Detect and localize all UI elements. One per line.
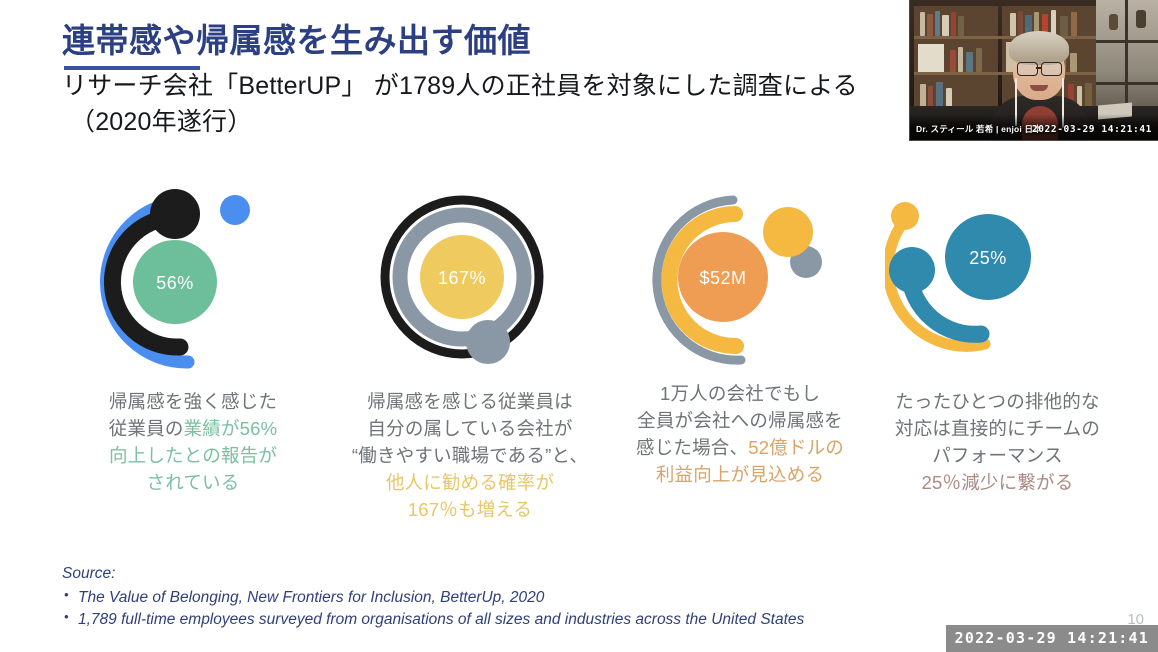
metric-graphic-row: 56% 167%	[0, 172, 1158, 392]
metric-donut-recommend-likelihood: 167%	[345, 172, 595, 387]
caption-text: パフォーマンス	[932, 445, 1063, 466]
metric-donut-profit-uplift: $52M	[613, 172, 863, 387]
donut-chart-25: 25%	[885, 172, 1095, 387]
caption-line: 全員が会社への帰属感を	[620, 407, 860, 434]
book	[927, 14, 933, 36]
source-heading: Source:	[62, 563, 804, 585]
subtitle-block: リサーチ会社「BetterUP」 が1789人の正社員を対象にした調査による （…	[62, 68, 962, 141]
window-ornament	[1109, 14, 1118, 30]
shelf-divider	[914, 72, 1098, 75]
metric-donut-exclusion-performance-drop: 25%	[865, 172, 1115, 387]
inner-arc-endpoint-dot	[763, 207, 813, 257]
teal-endpoint-dot	[889, 247, 935, 293]
book	[1018, 11, 1023, 36]
outer-arc-endpoint-dot	[220, 195, 250, 225]
book	[936, 82, 943, 108]
picture-frame	[918, 44, 944, 72]
eyeglasses-right-lens	[1041, 62, 1062, 76]
caption-accent: 向上したとの報告が	[109, 445, 277, 466]
caption-line: 帰属感を感じる従業員は	[345, 388, 595, 415]
book	[1060, 16, 1068, 36]
caption-line: 167％も増える	[345, 496, 595, 523]
book	[946, 88, 952, 108]
caption-text: “働きやすい職場である”と、	[352, 445, 588, 466]
recording-timestamp-bar: 2022-03-29 14:21:41	[946, 625, 1158, 652]
book	[976, 48, 982, 72]
metric-value: 56%	[156, 273, 194, 293]
book	[1010, 13, 1016, 36]
caption-line: 他人に勧める確率が	[345, 469, 595, 496]
window-mullion	[1096, 82, 1158, 85]
caption-text: 帰属感を強く感じた	[109, 391, 277, 412]
page-title: 連帯感や帰属感を生み出す価値	[62, 22, 942, 60]
subtitle-line-1: リサーチ会社「BetterUP」 が1789人の正社員を対象にした調査による	[62, 68, 962, 104]
metric-value: 25%	[969, 248, 1007, 268]
book	[935, 11, 940, 36]
caption-line: 帰属感を強く感じた	[78, 388, 308, 415]
caption-line: 自分の属している会社が	[345, 415, 595, 442]
caption-line: 対応は直接的にチームの	[880, 415, 1115, 442]
caption-accent: 25％減少に繋がる	[922, 472, 1074, 493]
book	[1085, 83, 1092, 108]
caption-accent: 52億ドルの	[748, 437, 844, 458]
caption-text: 1万人の会社でもし	[660, 383, 820, 404]
caption-text: 全員が会社への帰属感を	[637, 410, 843, 431]
donut-chart-52m: $52M	[623, 172, 853, 387]
book	[920, 12, 925, 36]
metric-caption-belonging-performance: 帰属感を強く感じた 従業員の業績が56% 向上したとの報告が されている	[78, 388, 308, 496]
book	[928, 86, 933, 108]
metric-donut-belonging-performance: 56%	[65, 172, 315, 387]
subtitle-line-2: （2020年遂行）	[62, 104, 962, 140]
caption-text: たったひとつの排他的な	[895, 391, 1099, 412]
caption-line: パフォーマンス	[880, 442, 1115, 469]
caption-accent: 167％も増える	[408, 499, 532, 520]
presentation-slide: 連帯感や帰属感を生み出す価値 リサーチ会社「BetterUP」 が1789人の正…	[0, 0, 1158, 652]
caption-accent: 業績が56%	[184, 418, 278, 439]
source-list-item: The Value of Belonging, New Frontiers fo…	[62, 587, 804, 609]
metric-caption-profit-uplift: 1万人の会社でもし 全員が会社への帰属感を 感じた場合、52億ドルの 利益向上が…	[620, 380, 860, 488]
metric-value: $52M	[699, 268, 746, 288]
donut-chart-167: 167%	[360, 172, 580, 387]
metric-caption-recommend-likelihood: 帰属感を感じる従業員は 自分の属している会社が “働きやすい職場である”と、 他…	[345, 388, 595, 523]
video-call-overlay[interactable]: Dr. スティール 若希 | enjoi 日本 2022-03-29 14:21…	[909, 0, 1158, 141]
book	[1071, 12, 1077, 36]
book	[950, 50, 956, 72]
inner-arc-endpoint-dot	[150, 189, 200, 239]
source-footer: Source: The Value of Belonging, New Fron…	[62, 563, 804, 631]
book	[1070, 53, 1077, 72]
caption-line: 25％減少に繋がる	[880, 469, 1115, 496]
caption-line: されている	[78, 469, 308, 496]
book	[958, 47, 963, 72]
webcam-video-frame	[910, 0, 1158, 140]
metric-caption-exclusion-performance-drop: たったひとつの排他的な 対応は直接的にチームの パフォーマンス 25％減少に繋が…	[880, 388, 1115, 496]
book	[920, 84, 926, 108]
caption-line: 1万人の会社でもし	[620, 380, 860, 407]
participant-name-label: Dr. スティール 若希 | enjoi 日本	[916, 123, 1042, 135]
caption-line: 向上したとの報告が	[78, 442, 308, 469]
caption-text: 帰属感を感じる従業員は	[367, 391, 573, 412]
caption-line: 従業員の業績が56%	[78, 415, 308, 442]
inner-ring-endpoint-dot	[466, 320, 510, 364]
book	[951, 12, 956, 36]
book	[942, 15, 949, 36]
person-hair	[1009, 31, 1069, 65]
orange-endpoint-dot	[891, 202, 919, 230]
caption-text: 自分の属している会社が	[367, 418, 572, 439]
caption-accent: されている	[147, 472, 240, 493]
window-ornament	[1136, 10, 1146, 28]
window-mullion	[1096, 40, 1158, 43]
caption-text: 対応は直接的にチームの	[895, 418, 1100, 439]
donut-chart-56: 56%	[80, 172, 300, 387]
title-block: 連帯感や帰属感を生み出す価値	[62, 22, 942, 60]
caption-text: 従業員の	[109, 418, 184, 439]
source-list-item: 1,789 full-time employees surveyed from …	[62, 609, 804, 631]
eyeglasses-bridge	[1036, 67, 1041, 69]
metric-value: 167%	[438, 268, 486, 288]
caption-text: 感じた場合、	[636, 437, 748, 458]
book	[966, 52, 973, 72]
caption-line: 利益向上が見込める	[620, 461, 860, 488]
caption-line: 感じた場合、52億ドルの	[620, 434, 860, 461]
video-timestamp: 2022-03-29 14:21:41	[1032, 124, 1152, 135]
eyeglasses-left-lens	[1017, 62, 1038, 76]
caption-line: たったひとつの排他的な	[880, 388, 1115, 415]
book	[958, 16, 964, 36]
shelf-divider	[914, 36, 1098, 39]
source-list: The Value of Belonging, New Frontiers fo…	[62, 587, 804, 631]
caption-line: “働きやすい職場である”と、	[345, 442, 595, 469]
caption-accent: 他人に勧める確率が	[386, 472, 554, 493]
caption-accent: 利益向上が見込める	[656, 464, 824, 485]
